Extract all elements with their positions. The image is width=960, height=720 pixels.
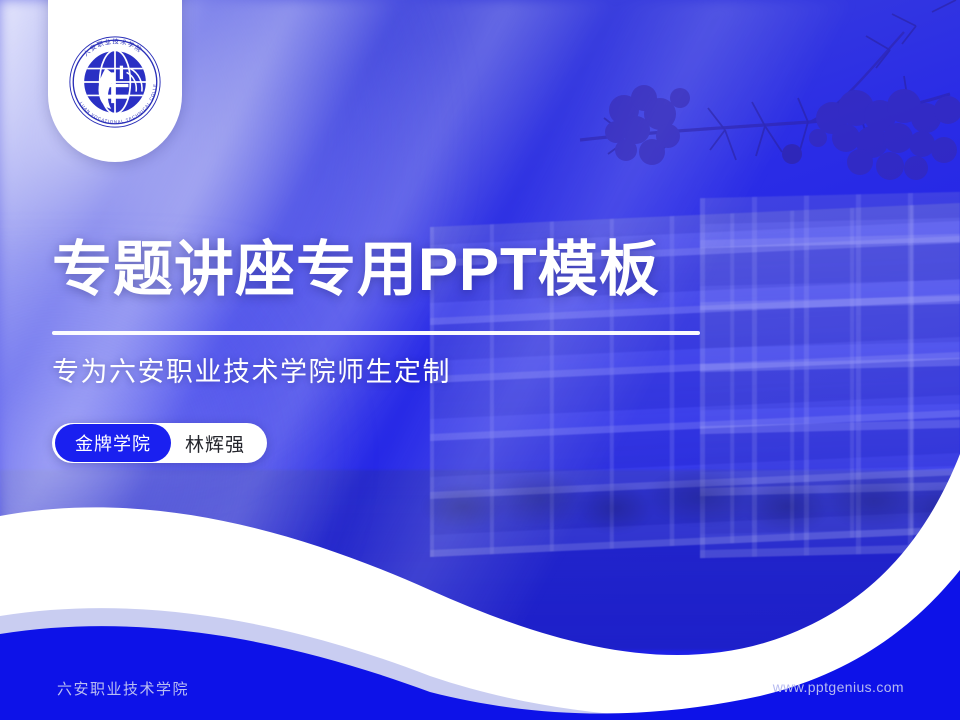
page-subtitle: 专为六安职业技术学院师生定制 bbox=[52, 350, 451, 389]
title-divider bbox=[52, 331, 700, 335]
institution-logo-icon: 六安职业技术学院 LUAN VOCATIONAL TECHNICAL COLLE… bbox=[67, 34, 163, 130]
footer-institution-name: 六安职业技术学院 bbox=[57, 678, 189, 699]
institution-logo-panel: 六安职业技术学院 LUAN VOCATIONAL TECHNICAL COLLE… bbox=[48, 0, 182, 162]
page-title: 专题讲座专用PPT模板 bbox=[52, 238, 660, 303]
footer-website-url[interactable]: www.pptgenius.com bbox=[773, 679, 904, 695]
presentation-cover-slide: 六安职业技术学院 LUAN VOCATIONAL TECHNICAL COLLE… bbox=[0, 0, 960, 720]
decorative-wave-group bbox=[0, 420, 960, 720]
flowering-branch-decoration bbox=[560, 0, 960, 210]
